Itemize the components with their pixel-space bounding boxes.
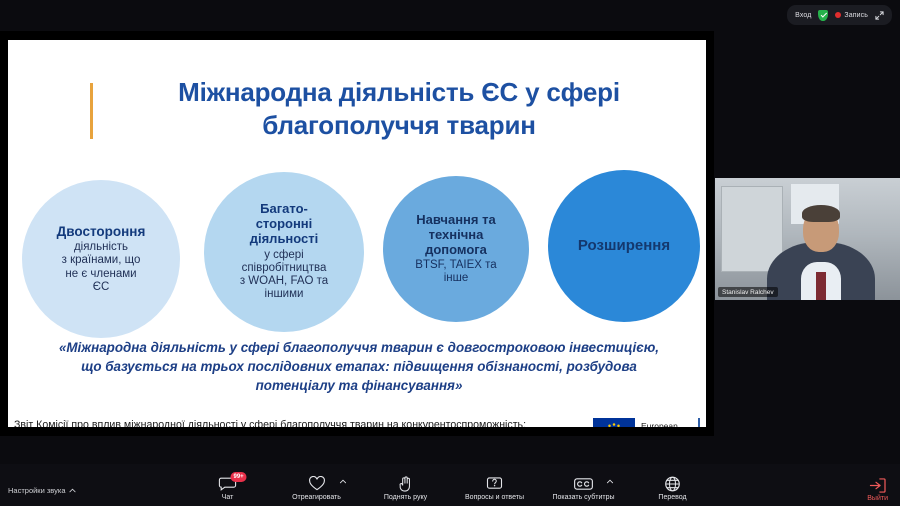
circle-training: Навчання татехнічнадопомога BTSF, TAIEX … [383,176,529,322]
qa-icon [487,475,503,492]
audio-settings-label: Настройки звука [8,486,65,495]
circle-body: BTSF, TAIEX таінше [415,259,496,285]
zoom-meeting-window: Вход Запись Міжнародна діяльність ЄС у с… [0,0,900,506]
participant-name-label: Stanislav Ralchev [718,287,778,297]
presentation-slide: Міжнародна діяльність ЄС у сфері благопо… [8,40,706,427]
recording-indicator[interactable]: Запись [835,12,868,19]
footnote-text: Звіт Комісії про вплив міжнародної діяль… [14,418,574,427]
translate-button[interactable]: Перевод [637,475,709,504]
qa-label: Вопросы и ответы [465,494,524,501]
shield-check-icon[interactable] [818,10,828,21]
react-button[interactable]: Отреагировать [281,475,353,504]
circle-heading: Двостороння [57,224,146,239]
circle-heading: Багато-стороннідіяльності [250,202,319,246]
meeting-top-controls: Вход Запись [787,5,892,25]
slide-footnote: Звіт Комісії про вплив міжнародної діяль… [14,418,574,427]
circle-bilateral: Двостороння діяльністьз країнами, щоне є… [22,180,180,338]
shared-screen-area: Міжнародна діяльність ЄС у сфері благопо… [0,31,714,436]
circle-body: у сферіспівробітництваз WOAH, FAO таінши… [240,249,328,302]
heart-reaction-icon [308,475,325,492]
raise-hand-label: Поднять руку [384,494,427,501]
leave-meeting-icon [869,478,886,493]
record-dot-icon [835,12,841,18]
eu-logo-text: European Commission [641,421,688,427]
circle-enlargement: Розширення [548,170,700,322]
react-label: Отреагировать [292,494,341,501]
chat-bubble-icon: 99+ [219,475,237,492]
leave-label: Выйти [867,495,888,502]
recording-label: Запись [844,12,868,19]
chevron-up-icon[interactable] [69,488,76,493]
circle-heading: Навчання татехнічнадопомога [416,213,495,257]
title-accent-bar [90,83,93,139]
circle-heading: Розширення [578,237,670,254]
translate-label: Перевод [658,494,686,501]
meeting-toolbar: Настройки звука 99+ Чат Отреагировать [0,464,900,506]
raise-hand-icon [399,475,413,492]
chat-button[interactable]: 99+ Чат [192,475,264,504]
chat-unread-badge: 99+ [231,472,247,482]
captions-label: Показать субтитры [552,494,614,501]
qa-button[interactable]: Вопросы и ответы [459,475,531,504]
video-person-hair [802,205,840,222]
eu-logo-line-1: European [641,421,688,427]
closed-captions-icon [574,475,594,492]
video-person-tie [816,272,826,300]
leave-meeting-button[interactable]: Выйти [867,478,888,502]
chevron-up-icon[interactable] [340,479,347,484]
chat-label: Чат [222,494,234,501]
globe-translate-icon [665,475,681,492]
raise-hand-button[interactable]: Поднять руку [370,475,442,504]
european-commission-logo: European Commission [593,418,700,427]
audio-settings-button[interactable]: Настройки звука [8,486,76,495]
circle-diagram: Двостороння діяльністьз країнами, щоне є… [8,162,706,322]
page-title: Міжнародна діяльність ЄС у сфері благопо… [104,76,694,143]
meeting-info-button[interactable]: Вход [795,12,811,19]
eu-flag-icon [593,418,635,427]
slide-title-line-2: благополуччя тварин [104,109,694,142]
enter-label: Вход [795,12,811,19]
participant-video-tile[interactable]: Stanislav Ralchev [715,178,900,300]
logo-divider [698,418,700,427]
circle-multilateral: Багато-стороннідіяльності у сферіспівроб… [204,172,364,332]
expand-arrows-icon[interactable] [875,11,884,20]
slide-title-line-1: Міжнародна діяльність ЄС у сфері [104,76,694,109]
slide-quote: «Міжнародна діяльність у сфері благополу… [54,338,664,395]
circle-body: діяльністьз країнами, щоне є членамиЄС [62,241,141,294]
chevron-up-icon[interactable] [607,479,614,484]
toolbar-buttons: 99+ Чат Отреагировать Поднять руку [192,475,709,504]
captions-button[interactable]: Показать субтитры [548,475,620,504]
